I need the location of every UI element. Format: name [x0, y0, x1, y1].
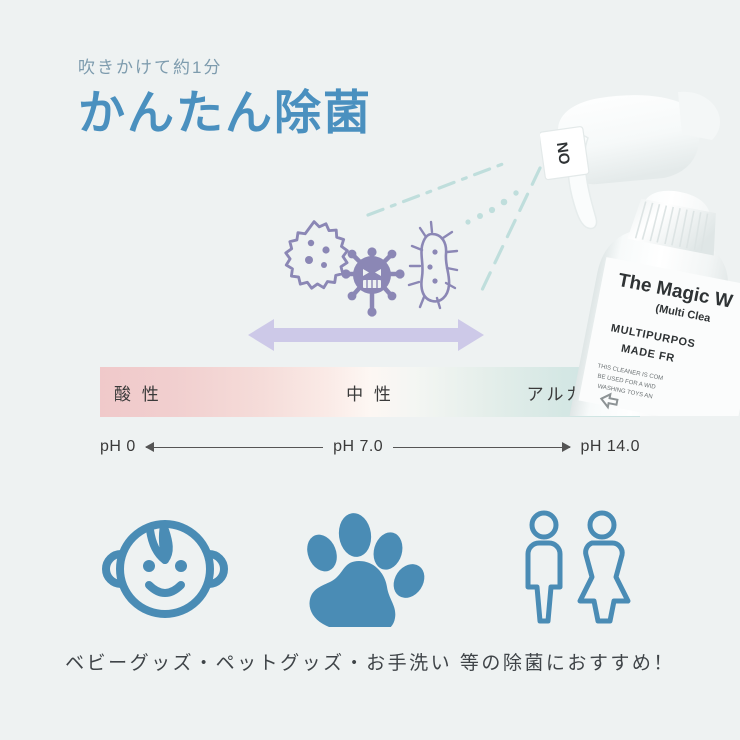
spray-bottle-icon: The Magic W (Multi Clea MULTIPURPOS MADE… — [540, 86, 740, 416]
feature-icon-pet — [285, 508, 455, 628]
rod-bacterium-icon — [409, 222, 457, 308]
rod-bacterium-dots — [427, 249, 437, 283]
paw-print-icon — [305, 509, 435, 627]
baby-face-icon — [91, 509, 239, 627]
spiky-germ-icon — [286, 222, 348, 289]
ph-axis-line-right — [393, 447, 570, 448]
double-arrow-icon — [248, 318, 484, 352]
ph-axis-line-left — [146, 447, 323, 448]
virus-face-icon — [341, 247, 404, 316]
arrow-head-left-icon — [145, 442, 154, 452]
restroom-people-icon — [510, 509, 640, 627]
spray-bottle-graphic: The Magic W (Multi Clea MULTIPURPOS MADE… — [540, 86, 740, 416]
feature-icons-row — [80, 508, 660, 628]
mist-dots — [465, 190, 518, 224]
bottle-label: The Magic W (Multi Clea MULTIPURPOS MADE… — [578, 257, 740, 416]
footer-caption: ベビーグッズ・ペットグッズ・お手洗い 等の除菌におすすめ！ — [0, 648, 740, 675]
ph-range-arrow — [248, 318, 484, 352]
ph-arrow-left — [146, 441, 323, 453]
ph-label-acidic: 酸 性 — [114, 380, 162, 405]
page-title: かんたん除菌 — [78, 86, 372, 140]
woman-icon — [580, 513, 628, 621]
promo-poster: 吹きかけて約1分 かんたん除菌 — [0, 0, 740, 740]
germs-graphic — [280, 212, 470, 327]
feature-icon-washroom — [490, 508, 660, 628]
on-tag-label: ON — [554, 141, 574, 166]
on-toggle-tag[interactable]: ON — [540, 126, 589, 180]
man-icon — [528, 513, 560, 621]
ph-value-mid: pH 7.0 — [333, 438, 383, 456]
subtitle: 吹きかけて約1分 — [78, 58, 372, 78]
spiky-germ-dots — [305, 240, 330, 268]
ph-scale-row: pH 0 pH 7.0 pH 14.0 — [100, 432, 640, 462]
ph-value-min: pH 0 — [100, 438, 136, 456]
arrow-head-right-icon — [562, 442, 571, 452]
ph-arrow-right — [393, 441, 570, 453]
ph-value-max: pH 14.0 — [580, 438, 640, 456]
ph-label-neutral: 中 性 — [346, 380, 394, 405]
heading-block: 吹きかけて約1分 かんたん除菌 — [78, 58, 372, 140]
feature-icon-baby — [80, 508, 250, 628]
